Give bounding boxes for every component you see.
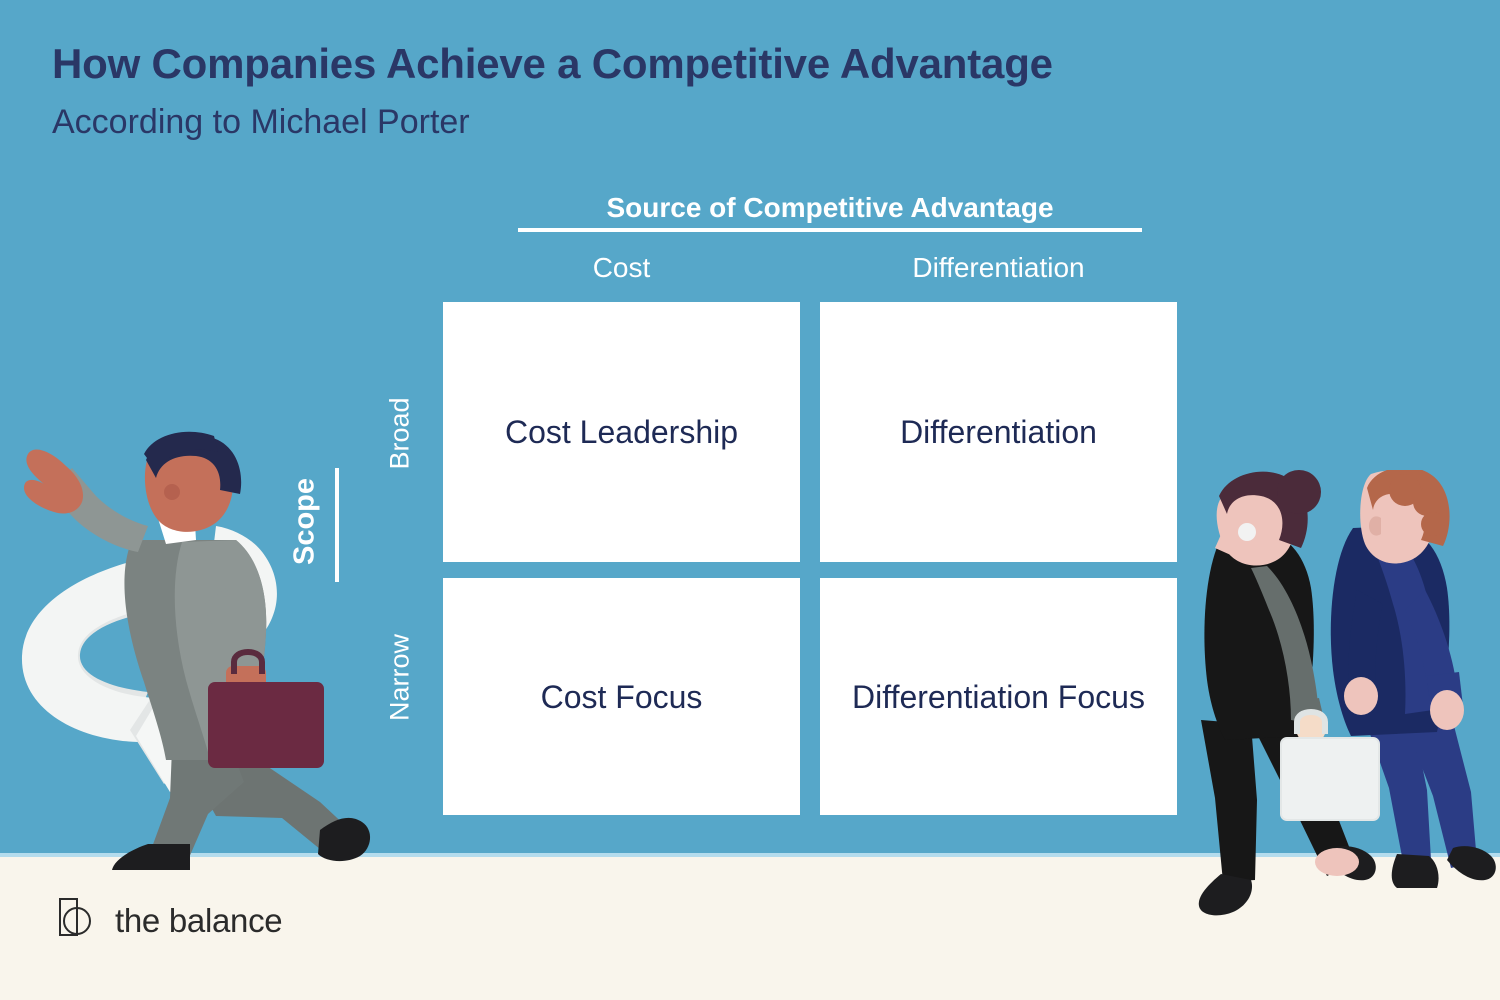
- two-people-walking-illustration: [1175, 470, 1500, 955]
- infographic-canvas: How Companies Achieve a Competitive Adva…: [0, 0, 1500, 1000]
- page-title: How Companies Achieve a Competitive Adva…: [52, 40, 1053, 88]
- brand-logo: the balance: [55, 895, 282, 946]
- column-header-cost: Cost: [443, 252, 800, 284]
- column-group-title: Source of Competitive Advantage: [518, 192, 1142, 224]
- row-axis-underline: [335, 468, 339, 582]
- matrix-cell-cost-focus: Cost Focus: [443, 578, 800, 815]
- page-subtitle: According to Michael Porter: [52, 103, 470, 142]
- matrix-cell-cost-leadership: Cost Leadership: [443, 302, 800, 562]
- column-header-differentiation: Differentiation: [820, 252, 1177, 284]
- row-header-narrow: Narrow: [385, 598, 416, 758]
- matrix-cell-differentiation: Differentiation: [820, 302, 1177, 562]
- balance-mark-icon: [55, 895, 101, 946]
- row-axis-title-scope: Scope: [289, 442, 322, 602]
- matrix-cell-differentiation-focus: Differentiation Focus: [820, 578, 1177, 815]
- column-group-underline: [518, 228, 1142, 232]
- brand-logo-text: the balance: [115, 902, 282, 940]
- row-header-broad: Broad: [385, 354, 416, 514]
- businessman-running-illustration: [20, 430, 380, 875]
